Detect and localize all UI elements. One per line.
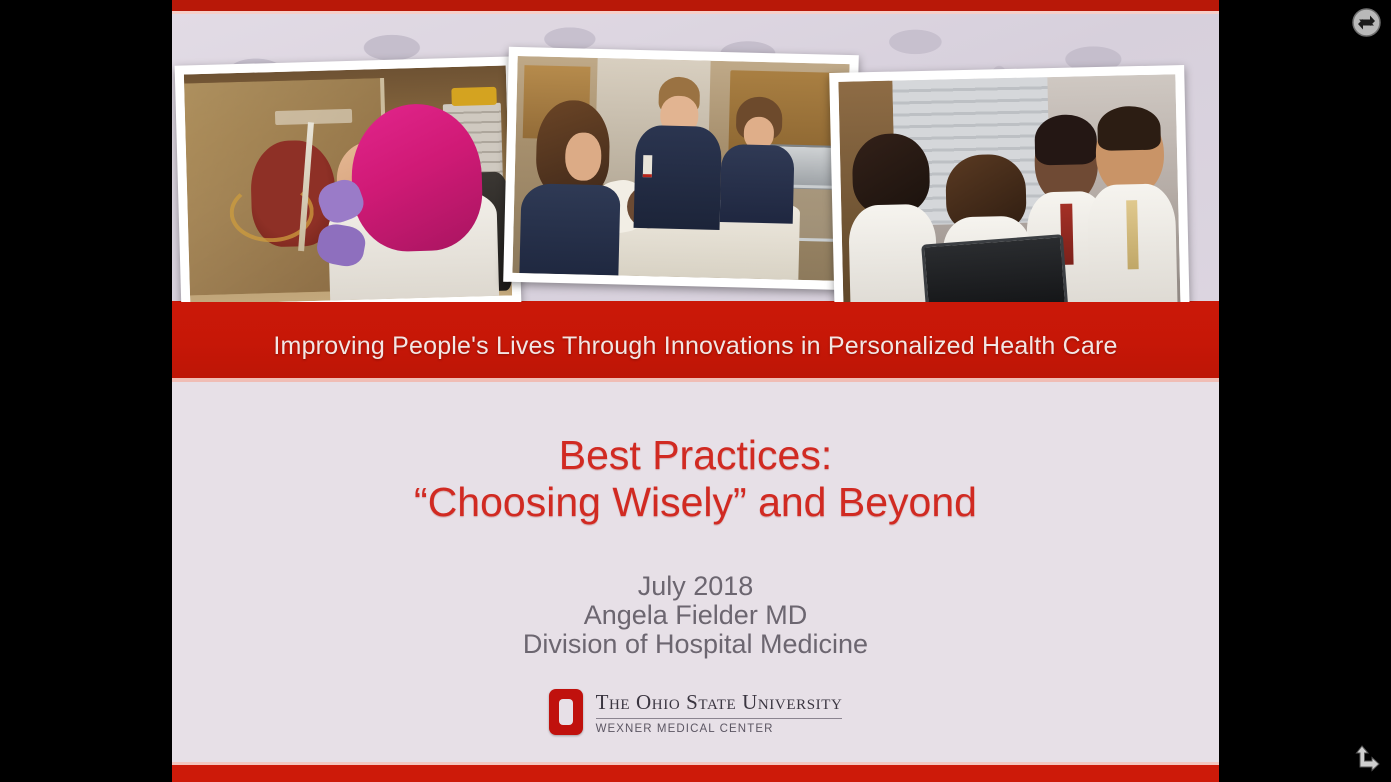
logo-divider-rule — [596, 718, 843, 719]
slide-top-red-bar — [172, 0, 1219, 11]
fullscreen-button[interactable] — [1352, 743, 1384, 775]
slide-tagline-text: Improving People's Lives Through Innovat… — [273, 318, 1117, 361]
tagline-banner-highlight — [172, 378, 1219, 382]
presentation-slide: Improving People's Lives Through Innovat… — [172, 0, 1219, 782]
photo-lab-researcher — [175, 56, 522, 302]
slide-header-band — [172, 13, 1219, 302]
slide-title-line-2: “Choosing Wisely” and Beyond — [172, 479, 1219, 526]
slide-subtitle-affiliation: Division of Hospital Medicine — [172, 630, 1219, 659]
slide-tagline-banner: Improving People's Lives Through Innovat… — [172, 301, 1219, 378]
photo-bedside-care — [503, 47, 859, 290]
slide-subtitle: July 2018 Angela Fielder MD Division of … — [172, 572, 1219, 659]
osu-wexner-logo: The Ohio State University WEXNER MEDICAL… — [549, 689, 843, 735]
video-player: Improving People's Lives Through Innovat… — [0, 0, 1391, 782]
slide-title-line-1: Best Practices: — [559, 432, 832, 478]
refresh-circle-icon — [1350, 6, 1383, 39]
refresh-button[interactable] — [1350, 6, 1383, 39]
slide-bottom-red-bar — [172, 765, 1219, 782]
slide-subtitle-presenter: Angela Fielder MD — [172, 601, 1219, 630]
photo-care-team-tablet — [829, 65, 1190, 302]
logo-unit-name: WEXNER MEDICAL CENTER — [596, 723, 843, 735]
slide-subtitle-date: July 2018 — [172, 572, 1219, 601]
slide-top-bar-highlight — [172, 11, 1219, 14]
block-o-icon — [549, 689, 583, 735]
slide-body: Best Practices: “Choosing Wisely” and Be… — [172, 382, 1219, 762]
expand-arrows-icon — [1352, 743, 1384, 775]
logo-organization-name: The Ohio State University — [596, 690, 843, 715]
slide-title: Best Practices: “Choosing Wisely” and Be… — [172, 432, 1219, 526]
